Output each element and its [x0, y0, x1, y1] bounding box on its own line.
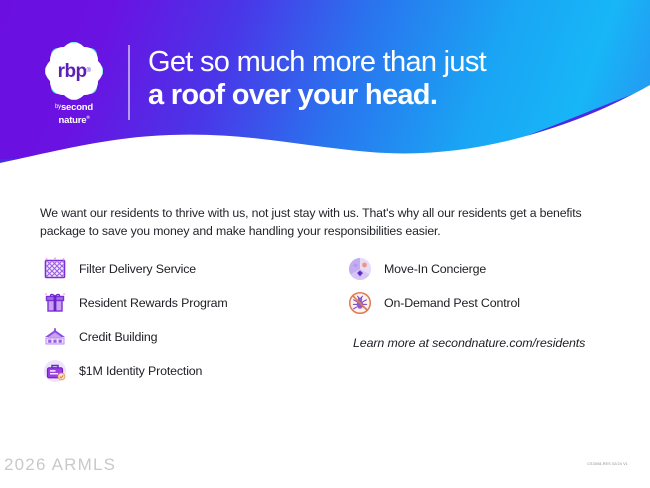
hero-headline: Get so much more than just a roof over y…: [148, 46, 486, 112]
benefit-label: Credit Building: [79, 330, 157, 344]
rbp-mark-text: rbp: [58, 62, 87, 81]
concierge-circle-icon: [345, 254, 375, 284]
intro-paragraph: We want our residents to thrive with us,…: [40, 205, 612, 240]
benefit-label: Resident Rewards Program: [79, 296, 228, 310]
benefit-label: On-Demand Pest Control: [384, 296, 520, 310]
armls-watermark: 2026 ARMLS: [4, 455, 116, 475]
air-filter-icon: [40, 254, 70, 284]
rbp-wordmark: rbp®: [45, 42, 103, 100]
benefit-label: Filter Delivery Service: [79, 262, 196, 276]
benefit-item-move-in-concierge: Move-In Concierge: [345, 252, 635, 286]
logo-sub-line1: second: [61, 102, 93, 113]
benefit-item-pest-control: On-Demand Pest Control: [345, 286, 635, 320]
rbp-logo: rbp® bysecond nature®: [36, 42, 112, 122]
hero-banner: rbp® bysecond nature® Get so much more t…: [0, 0, 650, 185]
headline-line-2: a roof over your head.: [148, 79, 486, 112]
logo-sub-trademark: ®: [86, 115, 89, 120]
benefit-item-filter-delivery: Filter Delivery Service: [40, 252, 340, 286]
credit-house-icon: [40, 322, 70, 352]
gift-box-icon: [40, 288, 70, 318]
benefit-item-resident-rewards: Resident Rewards Program: [40, 286, 340, 320]
benefit-item-identity-protection: $1M Identity Protection: [40, 354, 340, 388]
benefits-column-right: Move-In Concierge: [345, 252, 635, 350]
benefit-label: $1M Identity Protection: [79, 364, 202, 378]
logo-subtitle: bysecond nature®: [36, 103, 112, 125]
rbp-trademark: ®: [86, 68, 90, 74]
benefit-label: Move-In Concierge: [384, 262, 486, 276]
rosette-badge-icon: rbp®: [45, 42, 103, 100]
logo-sub-line2: nature: [59, 115, 87, 126]
id-briefcase-icon: [40, 356, 70, 386]
no-pest-icon: [345, 288, 375, 318]
document-code: CS3008-RES 02/24 V1: [587, 462, 628, 466]
marketing-flyer: rbp® bysecond nature® Get so much more t…: [0, 0, 650, 488]
benefits-column-left: Filter Delivery Service Resident Rewards…: [40, 252, 340, 388]
headline-line-1: Get so much more than just: [148, 46, 486, 79]
hero-vertical-divider: [128, 45, 130, 120]
benefit-item-credit-building: Credit Building: [40, 320, 340, 354]
learn-more-text[interactable]: Learn more at secondnature.com/residents: [353, 336, 635, 350]
